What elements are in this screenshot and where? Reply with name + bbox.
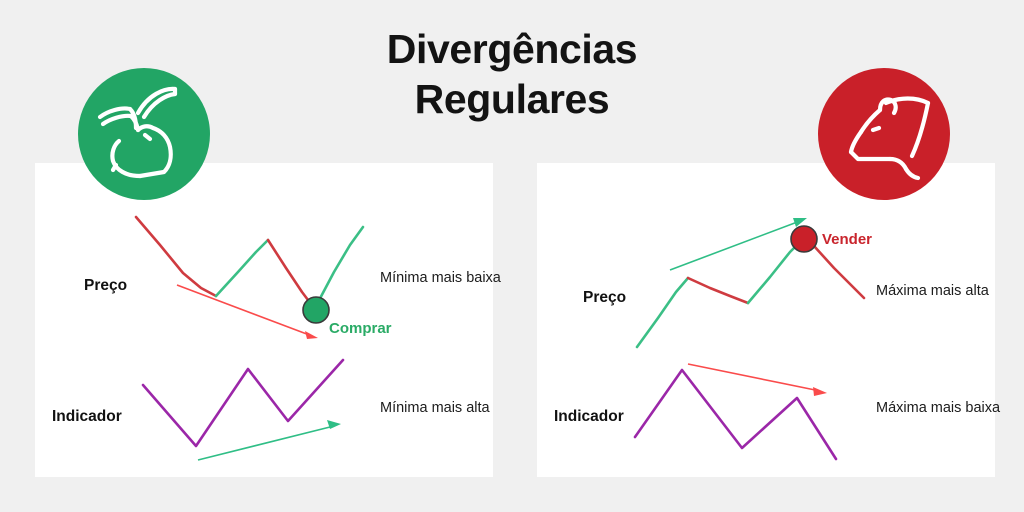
bear-badge xyxy=(818,68,950,200)
bull-head-icon xyxy=(78,68,210,200)
bearish-price-note: Máxima mais alta xyxy=(876,282,1006,301)
bearish-indicator-note: Máxima mais baixa xyxy=(876,399,1006,418)
infographic-root: Divergências Regulares Preço Indicador M… xyxy=(0,0,1024,512)
sell-signal-label: Vender xyxy=(822,231,872,248)
bearish-price-label: Preço xyxy=(583,289,626,307)
bull-badge xyxy=(78,68,210,200)
sell-marker-dot xyxy=(791,226,817,252)
bear-head-icon xyxy=(818,68,950,200)
bearish-indicator-label: Indicador xyxy=(554,408,624,426)
